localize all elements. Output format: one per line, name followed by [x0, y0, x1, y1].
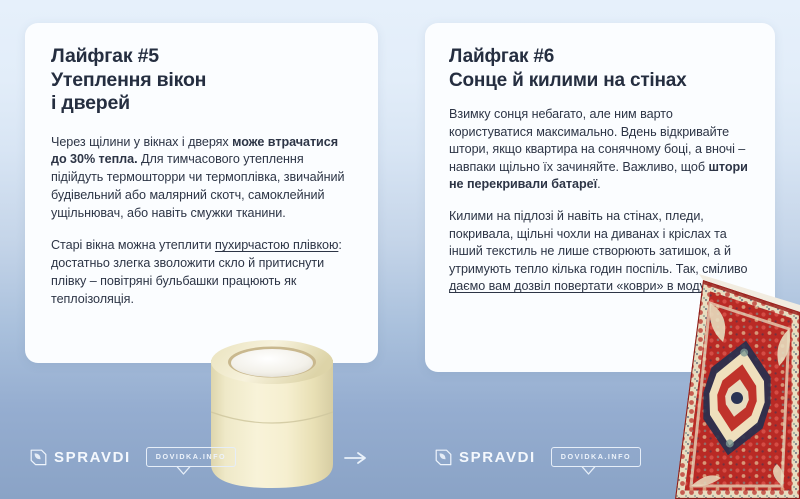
shield-icon	[435, 448, 452, 467]
masking-tape-rolls-photo	[207, 338, 337, 499]
dovidka-label: DOVIDKA.INFO	[146, 447, 236, 467]
slide-canvas: Лайфгак #5 Утеплення вікон і дверей Чере…	[0, 0, 800, 499]
p1-text-a: Взимку сонця небагато, але ним варто кор…	[449, 107, 745, 174]
spravdi-logo[interactable]: SPRAVDI	[30, 448, 131, 467]
bubble-tail-icon	[176, 466, 191, 475]
spravdi-label: SPRAVDI	[54, 449, 131, 466]
footer-left: SPRAVDI DOVIDKA.INFO	[30, 447, 236, 467]
footer-right: SPRAVDI DOVIDKA.INFO	[435, 447, 641, 467]
card-title-6: Лайфгак #6 Сонце й килими на стінах	[449, 45, 751, 92]
persian-carpet-photo	[669, 272, 800, 499]
p2-underline-a: пухирчастою плівкою	[215, 238, 338, 252]
card-title-5: Лайфгак #5 Утеплення вікон і дверей	[51, 45, 352, 116]
dovidka-logo[interactable]: DOVIDKA.INFO	[146, 447, 236, 467]
lifehack-card-5: Лайфгак #5 Утеплення вікон і дверей Чере…	[25, 23, 378, 363]
p1-text-a: Через щілини у вікнах і дверях	[51, 135, 232, 149]
shield-icon	[30, 448, 47, 467]
p1-text-b: .	[597, 177, 600, 191]
dovidka-label: DOVIDKA.INFO	[551, 447, 641, 467]
p2-text-a: Старі вікна можна утеплити	[51, 238, 215, 252]
card-6-paragraph-1: Взимку сонця небагато, але ним варто кор…	[449, 106, 751, 194]
spravdi-logo[interactable]: SPRAVDI	[435, 448, 536, 467]
dovidka-logo[interactable]: DOVIDKA.INFO	[551, 447, 641, 467]
bubble-tail-icon	[581, 466, 596, 475]
p2-text-a: Килими на підлозі й навіть на стінах, пл…	[449, 209, 748, 276]
card-5-paragraph-1: Через щілини у вікнах і дверях може втра…	[51, 134, 352, 223]
spravdi-label: SPRAVDI	[459, 449, 536, 466]
next-arrow-icon[interactable]	[341, 448, 371, 468]
card-5-paragraph-2: Старі вікна можна утеплити пухирчастою п…	[51, 237, 352, 308]
